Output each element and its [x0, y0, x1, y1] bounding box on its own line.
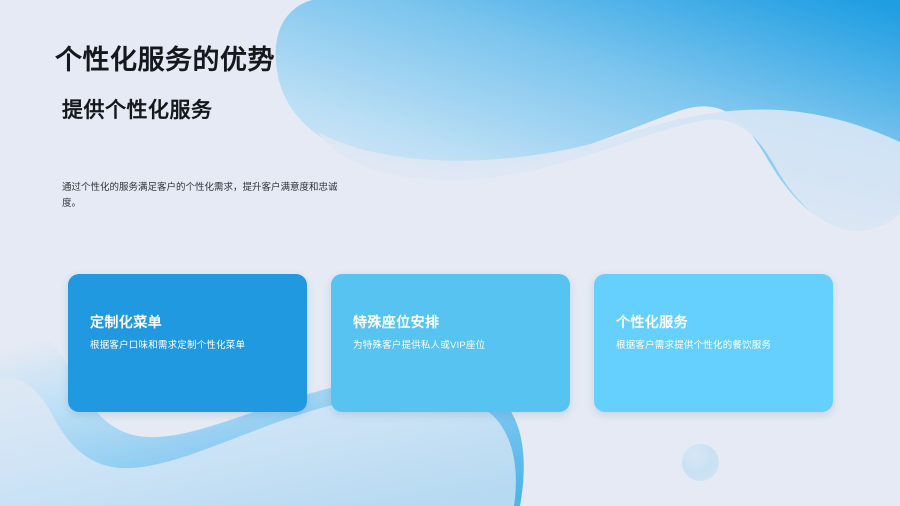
feature-card-list: 定制化菜单 根据客户口味和需求定制个性化菜单 特殊座位安排 为特殊客户提供私人或… [68, 274, 833, 412]
page-subtitle: 提供个性化服务 [62, 94, 213, 124]
feature-card[interactable]: 定制化菜单 根据客户口味和需求定制个性化菜单 [68, 274, 307, 412]
top-right-wave-overlay [318, 110, 900, 231]
soft-circle [682, 444, 719, 481]
feature-card-description: 为特殊客户提供私人或VIP座位 [353, 339, 556, 353]
body-paragraph: 通过个性化的服务满足客户的个性化需求，提升客户满意度和忠诚度。 [62, 180, 340, 212]
feature-card-description: 根据客户需求提供个性化的餐饮服务 [616, 339, 819, 353]
page-title: 个性化服务的优势 [55, 38, 275, 77]
feature-card-content: 定制化菜单 根据客户口味和需求定制个性化菜单 [90, 312, 293, 353]
feature-card-title: 定制化菜单 [90, 312, 293, 332]
feature-card[interactable]: 个性化服务 根据客户需求提供个性化的餐饮服务 [594, 274, 833, 412]
slide-canvas: 个性化服务的优势 提供个性化服务 通过个性化的服务满足客户的个性化需求，提升客户… [0, 0, 900, 506]
feature-card-description: 根据客户口味和需求定制个性化菜单 [90, 339, 293, 353]
top-right-wave [276, 0, 900, 227]
feature-card-content: 个性化服务 根据客户需求提供个性化的餐饮服务 [616, 312, 819, 353]
feature-card-content: 特殊座位安排 为特殊客户提供私人或VIP座位 [353, 312, 556, 353]
feature-card-title: 特殊座位安排 [353, 312, 556, 332]
feature-card[interactable]: 特殊座位安排 为特殊客户提供私人或VIP座位 [331, 274, 570, 412]
feature-card-title: 个性化服务 [616, 312, 819, 332]
